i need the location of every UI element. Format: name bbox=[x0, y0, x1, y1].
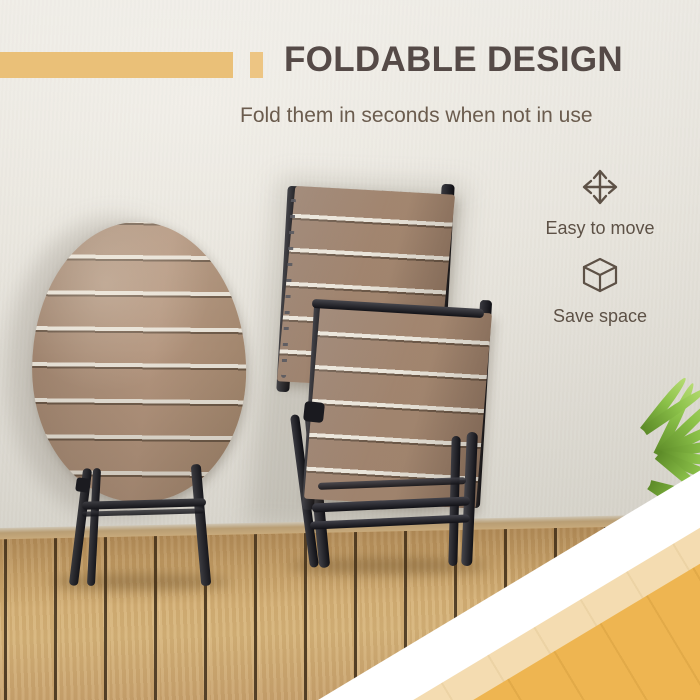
table-hinge-bracket bbox=[75, 477, 91, 493]
cube-icon bbox=[500, 252, 700, 298]
table-round-top bbox=[30, 220, 249, 504]
table-highlight bbox=[30, 220, 249, 504]
folded-round-table bbox=[20, 222, 260, 562]
feature-easy-to-move: Easy to move bbox=[500, 164, 700, 239]
folded-chair bbox=[278, 180, 498, 580]
accent-bar-short bbox=[250, 52, 263, 78]
move-arrows-icon bbox=[500, 164, 700, 210]
page-subtitle: Fold them in seconds when not in use bbox=[240, 104, 593, 128]
feature-label: Save space bbox=[500, 306, 700, 327]
page-title: FOLDABLE DESIGN bbox=[284, 40, 623, 80]
feature-save-space: Save space bbox=[500, 252, 700, 327]
chair-hinge bbox=[303, 401, 325, 423]
accent-bar-long bbox=[0, 52, 233, 78]
product-feature-banner: FOLDABLE DESIGN Fold them in seconds whe… bbox=[0, 0, 700, 700]
chair-rail-lower bbox=[310, 514, 470, 529]
table-crossbar-lower bbox=[82, 508, 204, 516]
feature-label: Easy to move bbox=[500, 218, 700, 239]
